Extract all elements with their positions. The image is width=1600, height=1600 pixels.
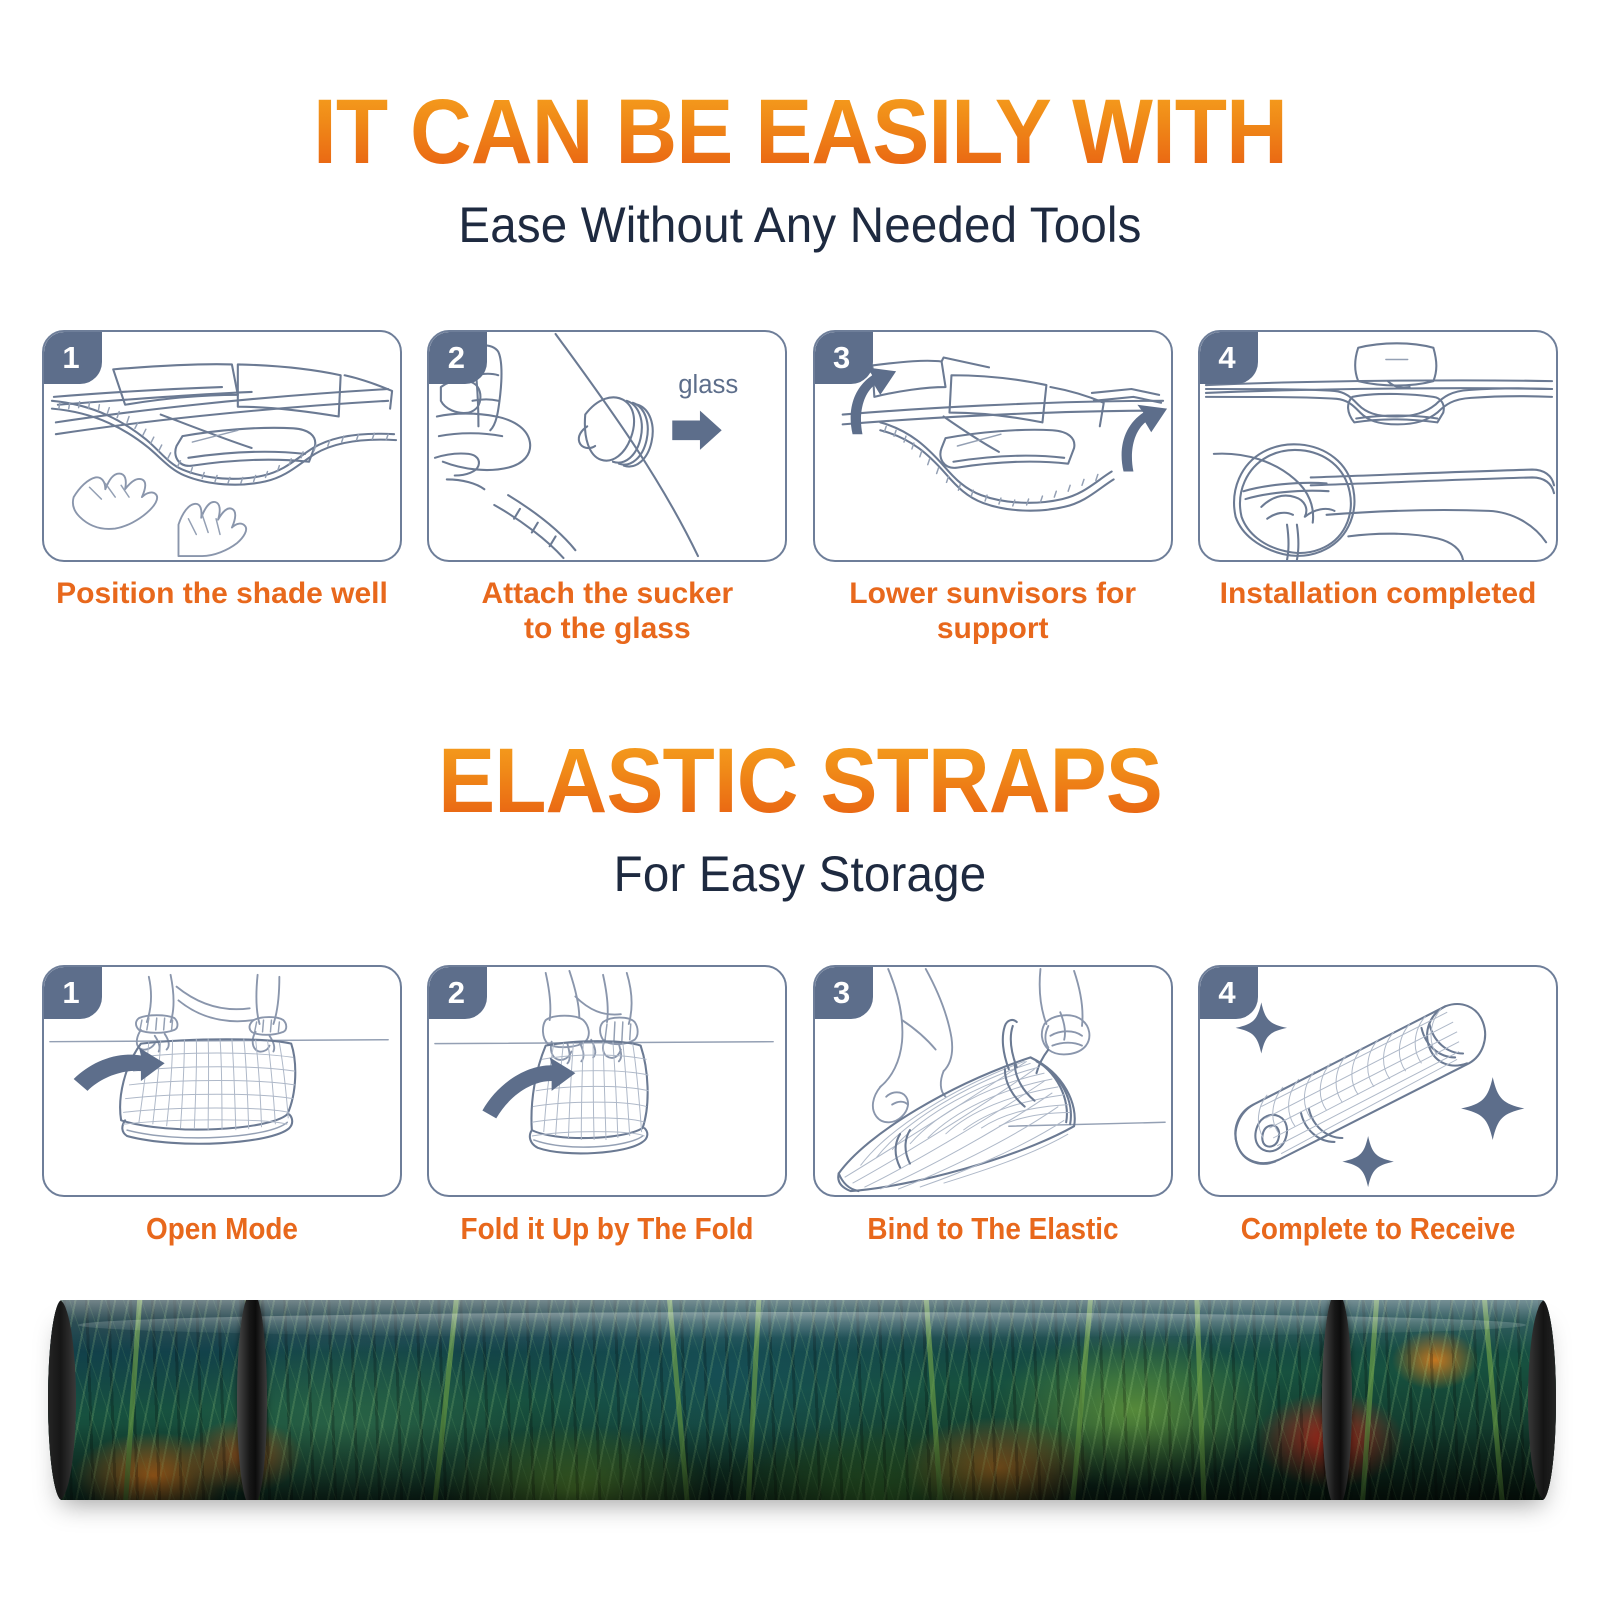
storage-step-4[interactable]: 4 xyxy=(1198,965,1558,1248)
step-number-badge: 2 xyxy=(429,332,487,384)
install-step-1-panel[interactable]: 1 xyxy=(42,330,402,562)
install-step-4[interactable]: 4 xyxy=(1198,330,1558,647)
install-step-3-panel[interactable]: 3 xyxy=(813,330,1173,562)
step-number-badge: 4 xyxy=(1200,967,1258,1019)
step-number-badge: 4 xyxy=(1200,332,1258,384)
storage-step-3-caption: Bind to The Elastic xyxy=(831,1211,1155,1248)
storage-step-3[interactable]: 3 xyxy=(813,965,1173,1248)
elastic-strap xyxy=(237,1300,267,1500)
install-steps-row: 1 xyxy=(0,330,1600,647)
install-step-1-caption: Position the shade well xyxy=(42,576,402,611)
install-step-4-caption: Installation completed xyxy=(1198,576,1558,611)
install-step-2-caption: Attach the sucker to the glass xyxy=(427,576,787,647)
step-number-badge: 2 xyxy=(429,967,487,1019)
install-title: IT CAN BE EASILY WITH xyxy=(56,86,1544,178)
install-step-2[interactable]: 2 xyxy=(427,330,787,647)
install-step-1[interactable]: 1 xyxy=(42,330,402,647)
install-step-3-caption: Lower sunvisors for support xyxy=(813,576,1173,647)
storage-steps-row: 1 xyxy=(0,965,1600,1248)
roll-end-right xyxy=(1528,1300,1556,1500)
storage-subtitle: For Easy Storage xyxy=(40,845,1560,903)
storage-section-header: ELASTIC STRAPS For Easy Storage xyxy=(0,735,1600,903)
storage-step-4-caption: Complete to Receive xyxy=(1216,1211,1540,1248)
install-step-2-panel[interactable]: 2 xyxy=(427,330,787,562)
install-section-header: IT CAN BE EASILY WITH Ease Without Any N… xyxy=(0,86,1600,254)
elastic-strap xyxy=(1322,1300,1352,1500)
storage-step-1-panel[interactable]: 1 xyxy=(42,965,402,1197)
step-number-badge: 1 xyxy=(44,332,102,384)
storage-step-1-caption: Open Mode xyxy=(60,1211,384,1248)
storage-title: ELASTIC STRAPS xyxy=(56,735,1544,827)
install-step-3[interactable]: 3 xyxy=(813,330,1173,647)
install-step-4-panel[interactable]: 4 xyxy=(1198,330,1558,562)
install-subtitle: Ease Without Any Needed Tools xyxy=(40,196,1560,254)
storage-step-2-panel[interactable]: 2 xyxy=(427,965,787,1197)
storage-step-3-panel[interactable]: 3 xyxy=(813,965,1173,1197)
storage-step-2-caption: Fold it Up by The Fold xyxy=(445,1211,769,1248)
step-number-badge: 3 xyxy=(815,967,873,1019)
step-number-badge: 3 xyxy=(815,332,873,384)
step-number-badge: 1 xyxy=(44,967,102,1019)
storage-step-2[interactable]: 2 xyxy=(427,965,787,1248)
rolled-sunshade xyxy=(48,1300,1556,1500)
storage-step-4-panel[interactable]: 4 xyxy=(1198,965,1558,1197)
glass-label: glass xyxy=(679,371,739,399)
storage-step-1[interactable]: 1 xyxy=(42,965,402,1248)
product-photo xyxy=(48,1300,1556,1500)
